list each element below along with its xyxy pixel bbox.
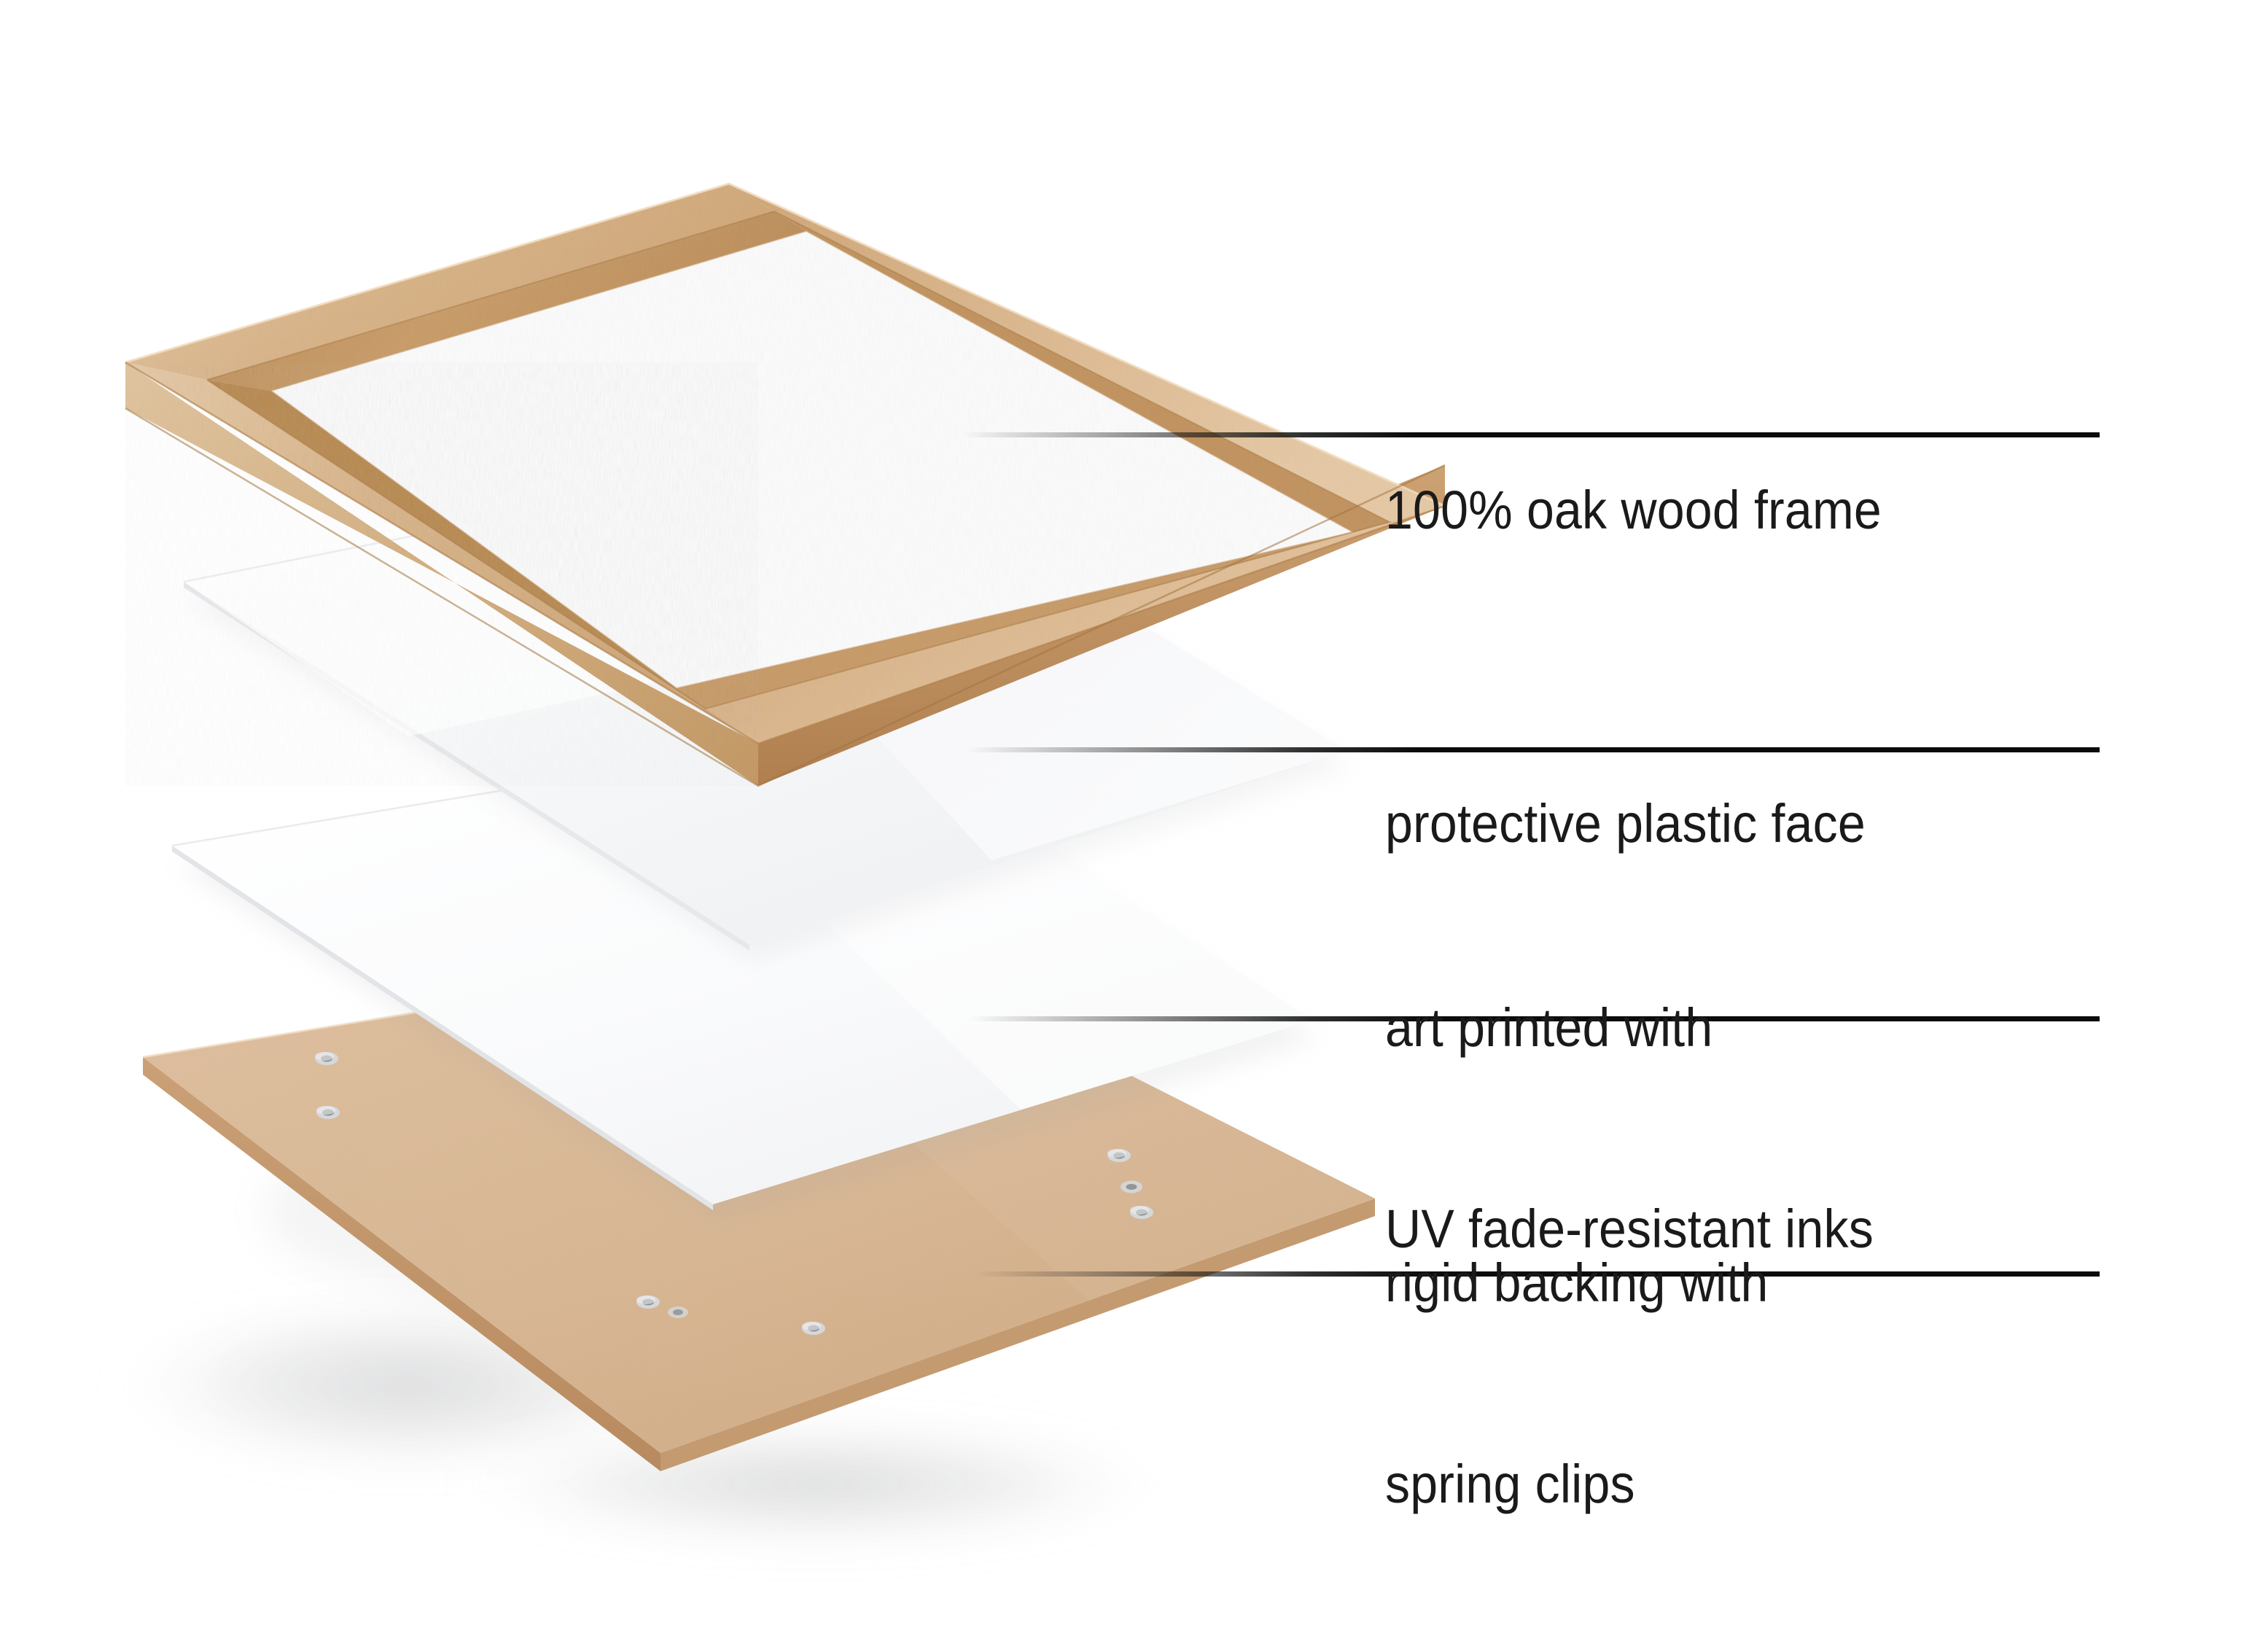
spring-clip	[316, 1106, 340, 1119]
label-rigid-backing: rigid backing with spring clips	[1385, 1115, 1769, 1652]
exploded-frame-diagram: 100% oak wood frame protective plastic f…	[0, 0, 2260, 1614]
spring-clip	[1107, 1149, 1131, 1162]
label-oak-frame-line-1: 100% oak wood frame	[1385, 477, 1882, 544]
spring-clip	[1121, 1181, 1142, 1193]
label-oak-frame: 100% oak wood frame	[1385, 343, 1882, 678]
diagram-illustration	[0, 0, 2260, 1614]
label-art-print-line-1: art printed with	[1385, 994, 1874, 1061]
layer-oak-frame	[117, 175, 1458, 786]
spring-clip	[1130, 1206, 1153, 1219]
spring-clip	[668, 1306, 688, 1318]
spring-clip	[315, 1052, 338, 1065]
label-rigid-backing-line-2: spring clips	[1385, 1451, 1769, 1518]
label-rigid-backing-line-1: rigid backing with	[1385, 1250, 1769, 1317]
spring-clip	[636, 1296, 660, 1309]
spring-clip	[802, 1322, 825, 1335]
label-plastic-face-line-1: protective plastic face	[1385, 790, 1866, 857]
